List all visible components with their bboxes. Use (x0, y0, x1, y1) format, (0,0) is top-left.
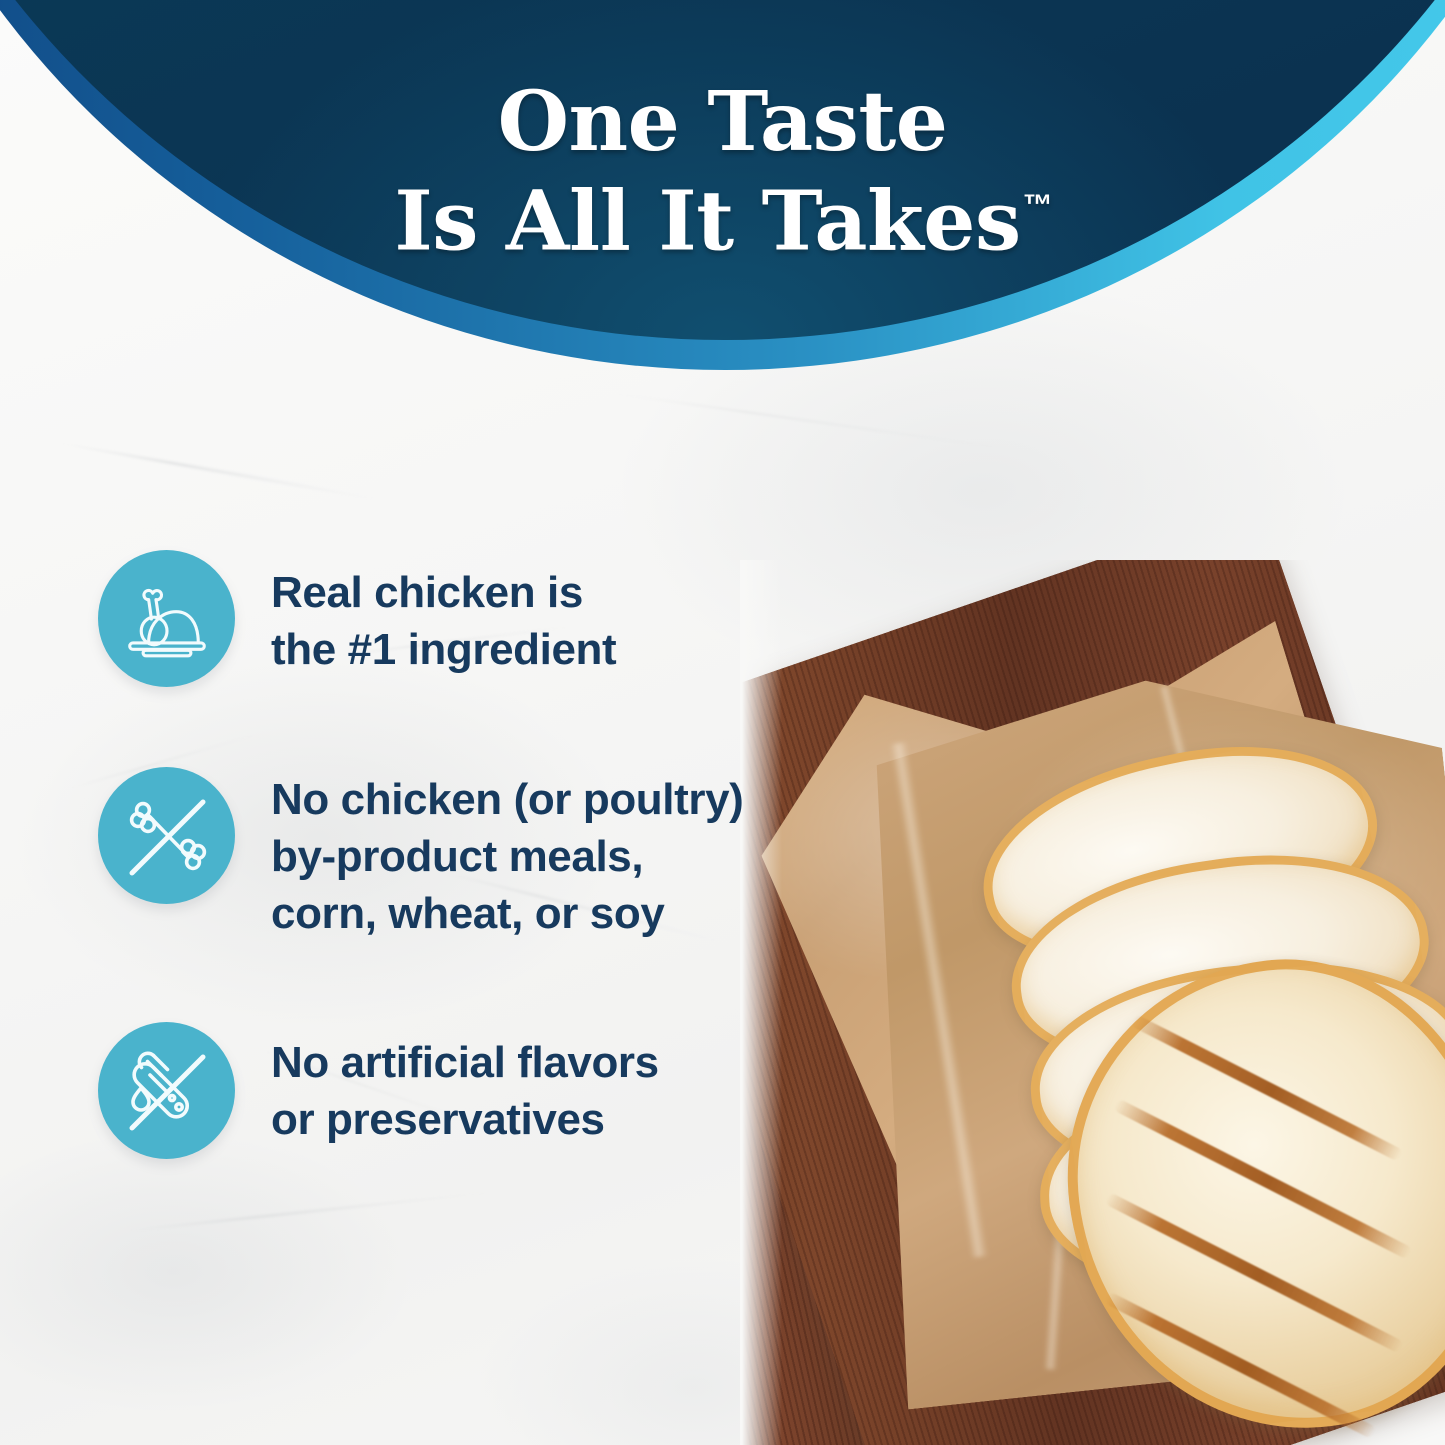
benefits-list: Real chicken is the #1 ingredient (98, 548, 858, 1159)
benefit-icon-badge (98, 550, 235, 687)
benefit-label: Real chicken is the #1 ingredient (271, 548, 616, 678)
benefit-label: No chicken (or poultry) by-product meals… (271, 765, 743, 942)
roast-chicken-platter-icon (121, 573, 213, 665)
trademark-symbol: ™ (1023, 189, 1053, 222)
page-title-line2-text: Is All It Takes (394, 173, 1020, 269)
no-test-tube-crossed-out-icon (117, 1041, 217, 1141)
benefit-item-real-chicken: Real chicken is the #1 ingredient (98, 548, 858, 687)
benefit-icon-badge (98, 1022, 235, 1159)
grill-mark (1113, 1098, 1413, 1259)
benefit-item-no-byproducts: No chicken (or poultry) by-product meals… (98, 765, 858, 942)
benefit-item-no-artificial: No artificial flavors or preservatives (98, 1020, 858, 1159)
page-title-line2: Is All It Takes™ (0, 168, 1445, 265)
promo-infographic: One Taste Is All It Takes™ (0, 0, 1445, 1445)
page-title-line1: One Taste (0, 78, 1445, 166)
marble-vein (57, 441, 383, 501)
grill-mark (1104, 1192, 1404, 1353)
no-bone-crossed-out-icon (117, 786, 217, 886)
benefit-label: No artificial flavors or preservatives (271, 1020, 659, 1148)
marble-vein (121, 1190, 499, 1233)
benefit-icon-badge (98, 767, 235, 904)
